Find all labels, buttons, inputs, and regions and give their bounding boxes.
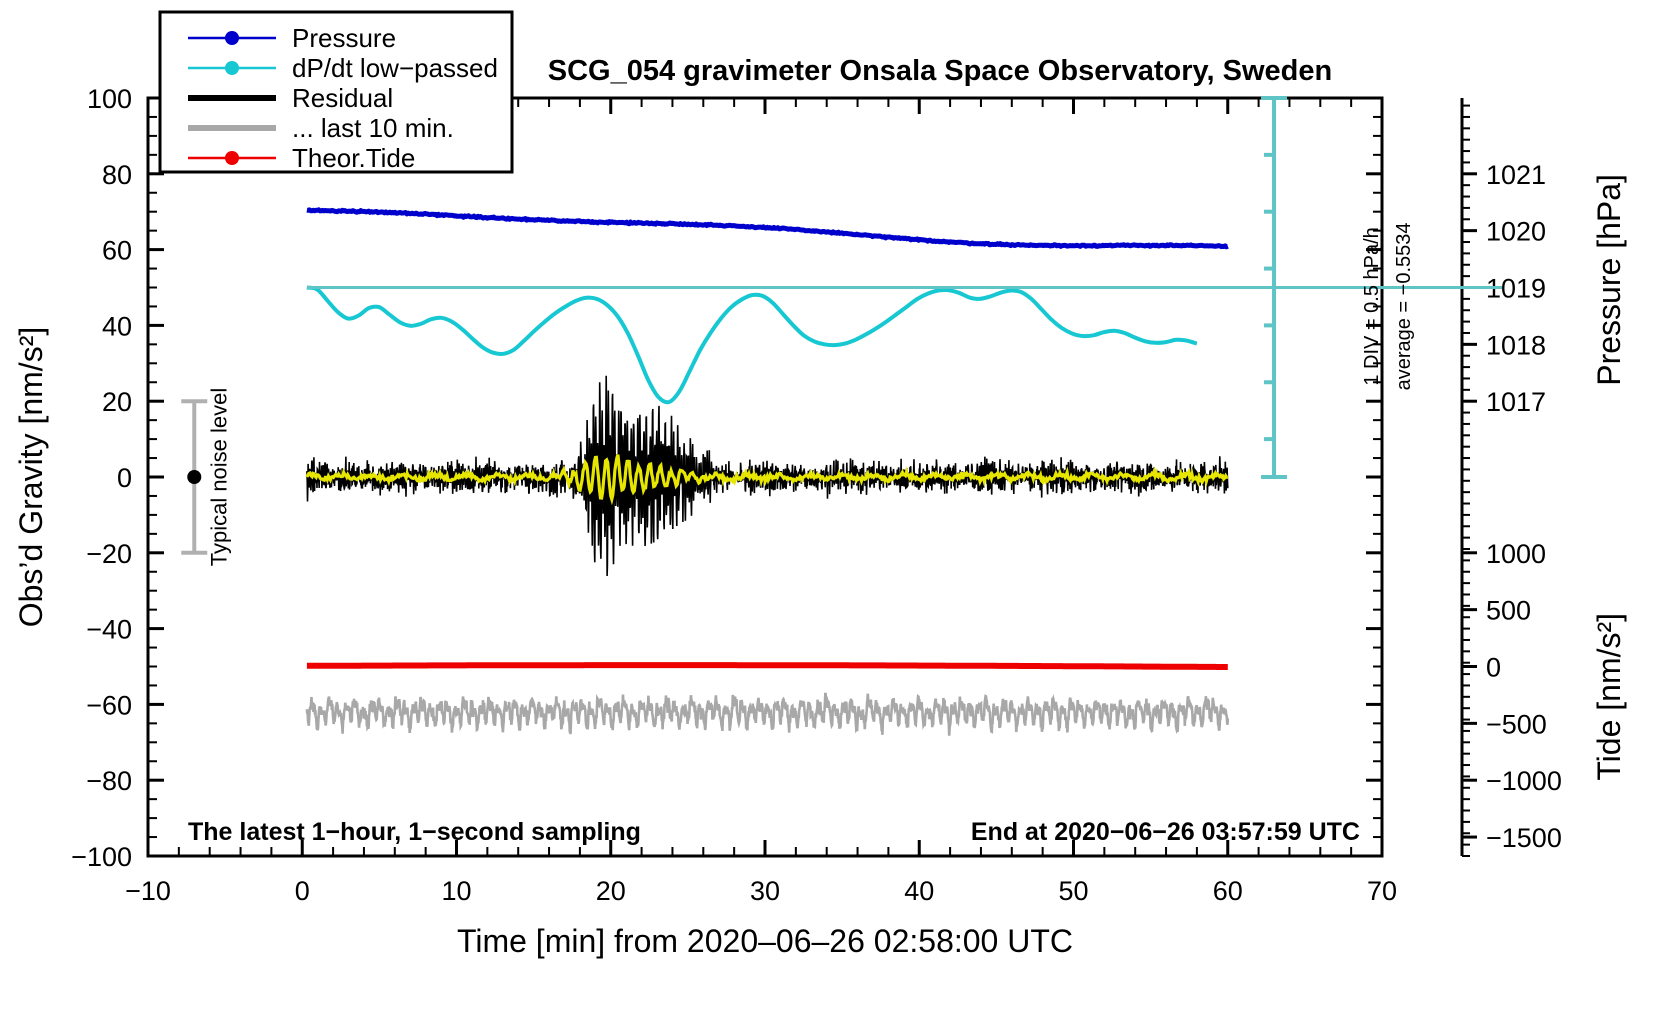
x-tick-label: 20	[596, 876, 626, 906]
legend-label: dP/dt low−passed	[292, 53, 498, 83]
x-tick-label: 10	[441, 876, 471, 906]
left-tick-label: 0	[117, 463, 132, 493]
typical-noise-level-label: Typical noise level	[206, 388, 231, 567]
left-tick-label: −20	[86, 539, 132, 569]
right-pressure-tick-label: 1017	[1486, 387, 1546, 417]
x-tick-label: 60	[1213, 876, 1243, 906]
chart-title: SCG_054 gravimeter Onsala Space Observat…	[548, 55, 1332, 87]
legend-label: Pressure	[292, 23, 396, 53]
legend-marker	[225, 151, 239, 165]
right-axis: 1021102010191018101710005000−500−1000−15…	[1462, 98, 1562, 856]
series-dpdt-lowpassed	[307, 288, 1197, 403]
x-tick-label: 30	[750, 876, 780, 906]
series-theoretical-tide	[307, 665, 1228, 667]
scale-bar-div-label: 1 DIV = 0.5 hPa/h	[1361, 227, 1383, 385]
legend-label: ... last 10 min.	[292, 113, 454, 143]
left-tick-label: −60	[86, 690, 132, 720]
right-tide-tick-label: −1500	[1486, 823, 1562, 853]
right-tide-tick-label: 0	[1486, 653, 1501, 683]
x-tick-label: 0	[295, 876, 310, 906]
x-tick-label: 70	[1367, 876, 1397, 906]
chart-canvas: −100−80−60−40−20020406080100−10010203040…	[0, 0, 1660, 1020]
left-tick-label: 60	[102, 236, 132, 266]
legend-label: Theor.Tide	[292, 143, 415, 173]
legend: PressuredP/dt low−passedResidual... last…	[160, 12, 512, 173]
legend-marker	[225, 61, 239, 75]
left-tick-label: 40	[102, 311, 132, 341]
right-tide-tick-label: −500	[1486, 709, 1547, 739]
legend-label: Residual	[292, 83, 393, 113]
left-tick-label: 100	[87, 84, 132, 114]
footnote-end-time: End at 2020−06−26 03:57:59 UTC	[971, 818, 1360, 846]
y-axis-title: Obs’d Gravity [nm/s²]	[13, 327, 49, 628]
bottom-axis: −10010203040506070	[125, 98, 1397, 906]
right-tide-tick-label: −1000	[1486, 766, 1562, 796]
left-tick-label: −80	[86, 766, 132, 796]
x-tick-label: 50	[1058, 876, 1088, 906]
scale-bar-average-label: average = −0.5534	[1393, 222, 1415, 390]
left-tick-label: −40	[86, 615, 132, 645]
right-tide-tick-label: 1000	[1486, 539, 1546, 569]
right-pressure-tick-label: 1020	[1486, 217, 1546, 247]
footnote-sampling: The latest 1−hour, 1−second sampling	[188, 818, 641, 846]
x-axis-title: Time [min] from 2020–06–26 02:58:00 UTC	[457, 923, 1073, 959]
left-tick-label: 80	[102, 160, 132, 190]
series-last-10-min	[307, 694, 1228, 736]
left-tick-label: 20	[102, 387, 132, 417]
right-pressure-tick-label: 1018	[1486, 330, 1546, 360]
right-tide-axis-title: Tide [nm/s²]	[1591, 613, 1627, 781]
left-tick-label: −100	[71, 842, 132, 872]
right-pressure-tick-label: 1021	[1486, 160, 1546, 190]
x-tick-label: 40	[904, 876, 934, 906]
right-tide-tick-label: 500	[1486, 596, 1531, 626]
gravimeter-timeseries-plot: −100−80−60−40−20020406080100−10010203040…	[0, 0, 1660, 1020]
series-group	[307, 210, 1502, 736]
typical-noise-level-marker: Typical noise level	[181, 388, 231, 567]
legend-marker	[225, 31, 239, 45]
series-pressure	[307, 210, 1228, 247]
right-pressure-axis-title: Pressure [hPa]	[1591, 174, 1627, 386]
x-tick-label: −10	[125, 876, 171, 906]
